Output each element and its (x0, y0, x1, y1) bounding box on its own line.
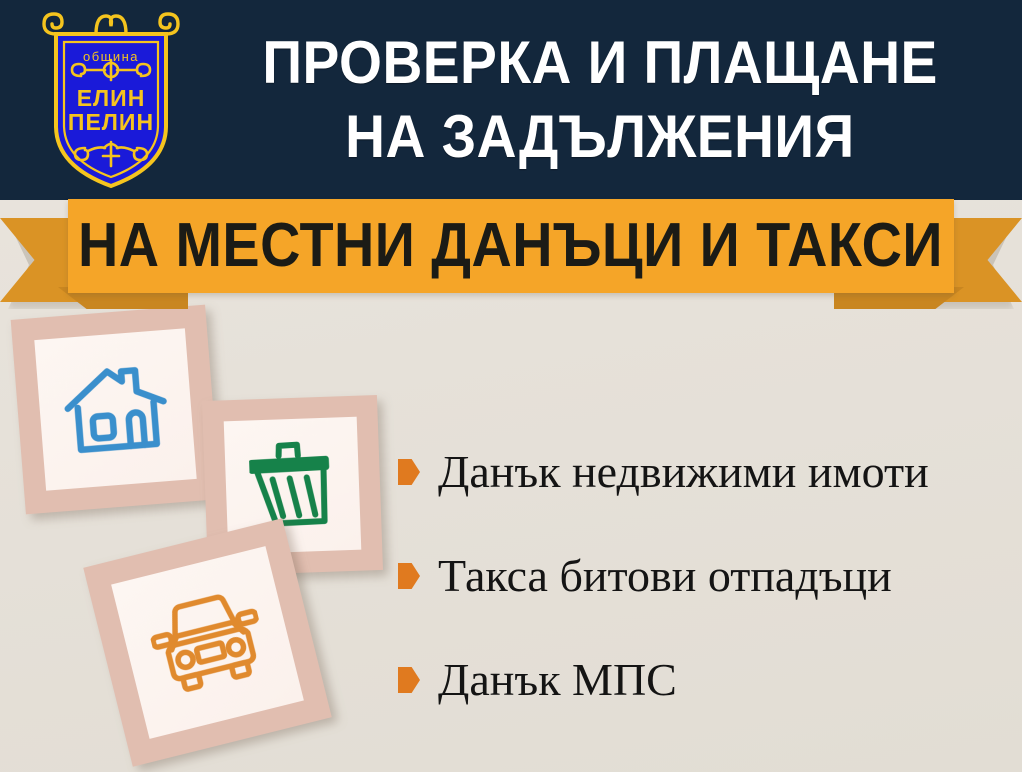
list-item[interactable]: Данък недвижими имоти (398, 420, 1008, 524)
arrow-bullet-icon (398, 459, 420, 485)
coat-of-arms-emblem: община ЕЛИН ПЕЛИН (40, 8, 182, 193)
tax-type-list: Данък недвижими имоти Такса битови отпад… (398, 420, 1008, 732)
poster-title: ПРОВЕРКА И ПЛАЩАНЕ НА ЗАДЪЛЖЕНИЯ (190, 14, 1010, 186)
arrow-bullet-icon (398, 563, 420, 589)
arrow-bullet-icon (398, 667, 420, 693)
stamp-card-group (0, 300, 420, 760)
poster-root: община ЕЛИН ПЕЛИН (0, 0, 1022, 772)
list-item[interactable]: Такса битови отпадъци (398, 524, 1008, 628)
house-icon (58, 358, 173, 460)
stamp-card-property (11, 305, 221, 515)
list-item[interactable]: Данък МПС (398, 628, 1008, 732)
stamp-inner-property (34, 328, 196, 490)
header-bar: община ЕЛИН ПЕЛИН (0, 0, 1022, 200)
list-item-label: Такса битови отпадъци (438, 550, 892, 602)
ribbon-panel: НА МЕСТНИ ДАНЪЦИ И ТАКСИ (68, 199, 954, 293)
ribbon-label: НА МЕСТНИ ДАНЪЦИ И ТАКСИ (79, 215, 944, 277)
list-item-label: Данък МПС (438, 654, 677, 706)
trash-bin-icon (248, 436, 337, 535)
title-line-2: НА ЗАДЪЛЖЕНИЯ (345, 100, 855, 174)
car-front-icon (143, 585, 272, 701)
title-line-1: ПРОВЕРКА И ПЛАЩАНЕ (262, 26, 937, 100)
svg-text:ПЕЛИН: ПЕЛИН (68, 109, 154, 135)
svg-text:ЕЛИН: ЕЛИН (77, 85, 146, 111)
subtitle-ribbon: НА МЕСТНИ ДАНЪЦИ И ТАКСИ (0, 199, 1022, 309)
list-item-label: Данък недвижими имоти (438, 446, 929, 498)
